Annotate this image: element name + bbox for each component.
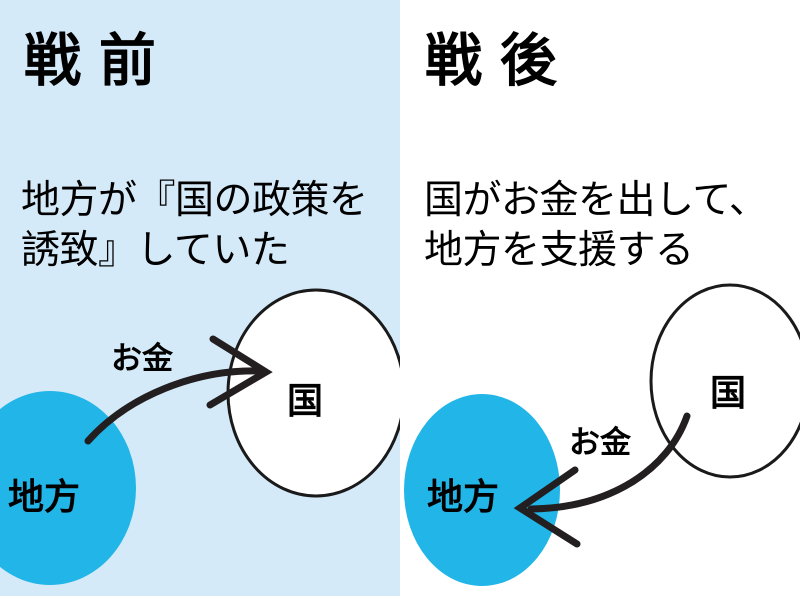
money-flow-label: お金	[569, 417, 631, 462]
node-local-label: 地方	[427, 468, 499, 520]
money-flow-arrow-head	[520, 470, 577, 544]
panel-before-war-title: 戦 前	[24, 32, 157, 92]
panel-before-war-body: 地方が『国の政策を 誘致』していた	[21, 176, 368, 276]
money-flow-label: お金	[111, 333, 173, 378]
panel-after-war: 戦 後 国がお金を出して、 地方を支援する 地方 国 お金	[400, 0, 800, 596]
panel-before-war: 戦 前 地方が『国の政策を 誘致』していた 地方 国 お金	[0, 0, 400, 596]
money-flow-arrow-head	[210, 339, 266, 405]
node-country-label: 国	[710, 364, 746, 416]
slide-canvas: 戦 前 地方が『国の政策を 誘致』していた 地方 国 お金 戦 後 国がお金を出…	[0, 0, 800, 596]
panel-after-war-title: 戦 後	[425, 32, 558, 92]
money-flow-arrow-shaft	[88, 371, 260, 441]
node-country-label: 国	[287, 372, 323, 424]
node-local-label: 地方	[8, 468, 80, 520]
panel-after-war-body: 国がお金を出して、 地方を支援する	[424, 176, 767, 276]
